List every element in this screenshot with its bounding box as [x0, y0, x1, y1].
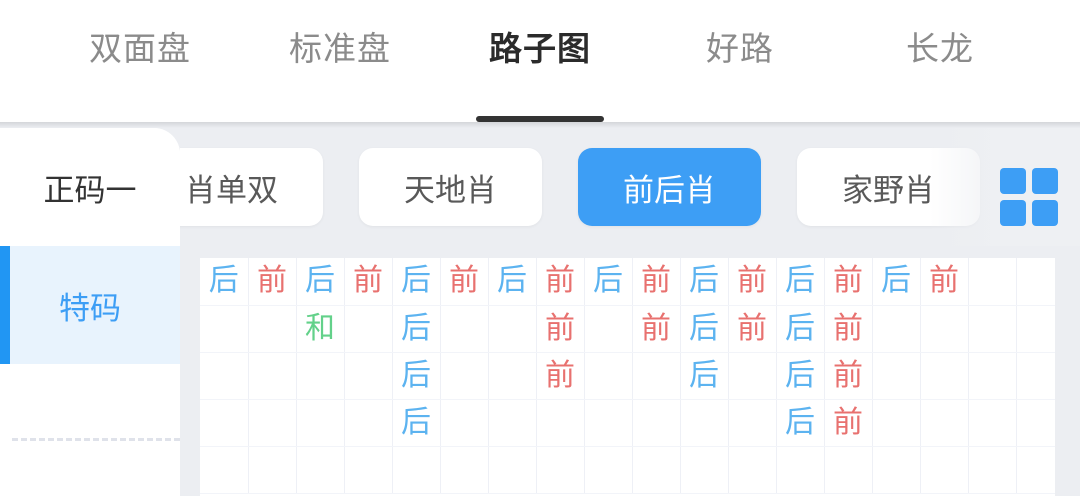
grid-cell: 前 — [632, 258, 680, 305]
grid-row: 后前后后前 — [200, 352, 1055, 399]
grid-cell — [776, 446, 824, 493]
content-area: 正码一特码 肖单双天地肖前后肖家野肖 后前后前后前后前后前后前后前后前和后前前后… — [0, 128, 1080, 496]
grid-cell: 后 — [680, 305, 728, 352]
grid-cell: 后 — [776, 258, 824, 305]
grid-cell — [728, 352, 776, 399]
grid-row — [200, 446, 1055, 493]
grid-cell: 后 — [680, 352, 728, 399]
grid-cell — [872, 305, 920, 352]
grid-cell-tr — [1032, 168, 1058, 194]
grid-cell — [440, 446, 488, 493]
grid-cell: 后 — [392, 352, 440, 399]
grid-cell — [488, 399, 536, 446]
grid-cell — [344, 352, 392, 399]
grid-row: 后前后前后前后前后前后前后前后前 — [200, 258, 1055, 305]
grid-cell — [584, 352, 632, 399]
road-map-screen: 双面盘标准盘路子图好路长龙 正码一特码 肖单双天地肖前后肖家野肖 后前后前后前后… — [0, 0, 1080, 496]
grid-cell — [440, 399, 488, 446]
grid-cell — [440, 305, 488, 352]
tab-0[interactable]: 双面盘 — [40, 0, 240, 122]
grid-cell — [1016, 305, 1055, 352]
grid-cell — [968, 399, 1016, 446]
grid-cell — [680, 399, 728, 446]
grid-cell — [824, 446, 872, 493]
grid-cell: 前 — [920, 258, 968, 305]
grid-cell: 后 — [680, 258, 728, 305]
grid-cell: 前 — [824, 352, 872, 399]
sidebar-item-0[interactable]: 特码 — [0, 246, 180, 364]
grid-cell: 后 — [584, 258, 632, 305]
grid-cell — [200, 305, 248, 352]
grid-cell — [296, 352, 344, 399]
category-sidebar: 正码一特码 — [0, 128, 180, 496]
grid-cell — [536, 399, 584, 446]
grid-cell — [344, 399, 392, 446]
filter-chip-2[interactable]: 前后肖 — [578, 148, 761, 226]
grid-cell — [1016, 352, 1055, 399]
grid-cell — [248, 446, 296, 493]
grid-cell — [968, 352, 1016, 399]
grid-cell — [344, 446, 392, 493]
grid-cell — [680, 446, 728, 493]
grid-cell: 前 — [824, 305, 872, 352]
grid-cell: 前 — [248, 258, 296, 305]
grid-cell-bl — [1000, 200, 1026, 226]
grid-cell — [488, 446, 536, 493]
grid-cell — [584, 446, 632, 493]
grid-cell — [584, 305, 632, 352]
sidebar-divider — [12, 438, 180, 441]
grid-cell: 后 — [776, 399, 824, 446]
tab-label: 双面盘 — [89, 32, 191, 65]
tab-1[interactable]: 标准盘 — [240, 0, 440, 122]
grid-cell — [872, 446, 920, 493]
tab-label: 长龙 — [906, 32, 974, 65]
grid-cell: 前 — [536, 305, 584, 352]
grid-cell — [728, 399, 776, 446]
tab-label: 路子图 — [489, 32, 591, 65]
grid-cell — [536, 446, 584, 493]
grid-cell: 后 — [392, 399, 440, 446]
grid-cell — [344, 305, 392, 352]
grid-cell — [248, 305, 296, 352]
filter-chip-3[interactable]: 家野肖 — [797, 148, 980, 226]
filter-chip-0[interactable]: 肖单双 — [180, 148, 323, 226]
grid-cell: 和 — [296, 305, 344, 352]
grid-cell: 前 — [632, 305, 680, 352]
tab-label: 标准盘 — [289, 32, 391, 65]
road-map-grid: 后前后前后前后前后前后前后前后前和后前前后前后前后前后后前后后前 — [200, 258, 1055, 494]
sidebar-item-1[interactable]: 正码一 — [0, 128, 180, 246]
grid-cell — [1016, 446, 1055, 493]
grid-cell — [248, 352, 296, 399]
grid-cell — [632, 352, 680, 399]
grid-cell: 前 — [728, 258, 776, 305]
grid-cell — [1016, 258, 1055, 305]
grid-cell — [728, 446, 776, 493]
road-map-grid-panel: 后前后前后前后前后前后前后前后前和后前前后前后前后前后后前后后前 — [200, 258, 1055, 496]
grid-cell — [1016, 399, 1055, 446]
grid-cell — [296, 399, 344, 446]
grid-cell — [872, 399, 920, 446]
grid-cell — [488, 352, 536, 399]
grid-cell: 前 — [536, 352, 584, 399]
grid-cell: 后 — [200, 258, 248, 305]
grid-cell — [968, 446, 1016, 493]
grid-cell: 后 — [296, 258, 344, 305]
grid-cell — [632, 399, 680, 446]
grid-cell: 后 — [488, 258, 536, 305]
grid-cell — [920, 352, 968, 399]
tab-4[interactable]: 长龙 — [840, 0, 1040, 122]
grid-2x2-icon[interactable] — [1000, 168, 1058, 226]
grid-cell: 前 — [728, 305, 776, 352]
grid-cell — [968, 258, 1016, 305]
grid-cell: 前 — [824, 399, 872, 446]
filter-chips-scroller[interactable]: 肖单双天地肖前后肖家野肖 — [180, 128, 1080, 246]
top-tab-bar: 双面盘标准盘路子图好路长龙 — [0, 0, 1080, 122]
grid-cell: 前 — [344, 258, 392, 305]
grid-cell — [488, 305, 536, 352]
grid-cell: 前 — [536, 258, 584, 305]
grid-cell: 后 — [392, 305, 440, 352]
grid-cell — [200, 399, 248, 446]
filter-chips-row: 肖单双天地肖前后肖家野肖 — [180, 128, 980, 246]
grid-cell — [392, 446, 440, 493]
grid-cell-tl — [1000, 168, 1026, 194]
grid-row: 后后前 — [200, 399, 1055, 446]
grid-cell — [968, 305, 1016, 352]
filter-chip-1[interactable]: 天地肖 — [359, 148, 542, 226]
grid-cell: 后 — [776, 305, 824, 352]
tab-label: 好路 — [706, 32, 774, 65]
grid-cell — [200, 446, 248, 493]
grid-cell: 前 — [440, 258, 488, 305]
grid-cell — [584, 399, 632, 446]
grid-cell — [872, 352, 920, 399]
grid-cell: 后 — [872, 258, 920, 305]
grid-cell — [920, 399, 968, 446]
grid-cell — [296, 446, 344, 493]
grid-cell: 后 — [776, 352, 824, 399]
grid-cell — [248, 399, 296, 446]
grid-cell — [440, 352, 488, 399]
grid-cell: 后 — [392, 258, 440, 305]
grid-cell — [632, 446, 680, 493]
grid-cell — [920, 305, 968, 352]
grid-cell-br — [1032, 200, 1058, 226]
tab-3[interactable]: 好路 — [640, 0, 840, 122]
grid-cell — [200, 352, 248, 399]
grid-row: 和后前前后前后前 — [200, 305, 1055, 352]
grid-cell: 前 — [824, 258, 872, 305]
grid-cell — [920, 446, 968, 493]
tab-2[interactable]: 路子图 — [440, 0, 640, 122]
